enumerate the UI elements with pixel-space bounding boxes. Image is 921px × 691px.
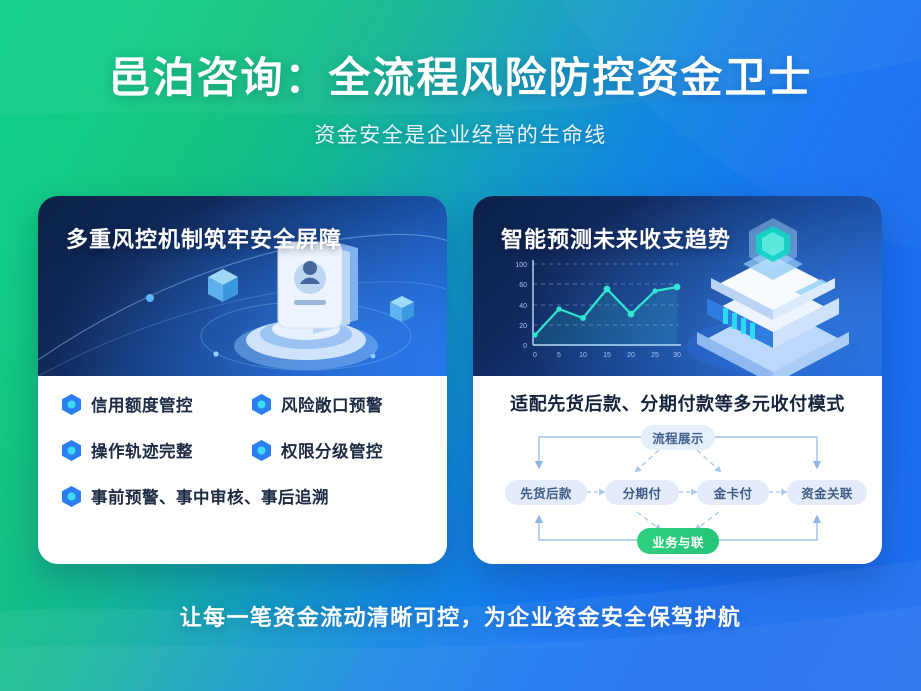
svg-text:60: 60 <box>519 282 527 289</box>
forecast-card[interactable]: 100 60 40 20 0 0 5 10 15 20 25 30 <box>473 196 882 564</box>
svg-text:20: 20 <box>627 352 635 359</box>
svg-text:10: 10 <box>579 352 587 359</box>
risk-control-card-body: 信用额度管控 风险敞口预警 操作轨迹 <box>38 376 447 564</box>
page-title: 邑泊咨询：全流程风险防控资金卫士 <box>0 52 921 105</box>
feature-item-credit-limit[interactable]: 信用额度管控 <box>62 392 252 416</box>
risk-control-heading: 多重风控机制筑牢安全屏障 <box>66 222 342 254</box>
feature-item-risk-exposure[interactable]: 风险敞口预警 <box>252 392 426 416</box>
feature-label: 权限分级管控 <box>281 438 383 462</box>
svg-text:0: 0 <box>533 352 537 359</box>
forecast-card-body: 适配先货后款、分期付款等多元收付模式 <box>473 376 882 564</box>
hexagon-bullet-icon <box>252 394 271 415</box>
svg-text:15: 15 <box>603 352 611 359</box>
feature-label: 风险敞口预警 <box>281 392 383 416</box>
page-subtitle: 资金安全是企业经营的生命线 <box>0 119 921 149</box>
footer-slogan: 让每一笔资金流动清晰可控，为企业资金安全保驾护航 <box>0 600 921 632</box>
flow-node-bottom[interactable]: 业务与联 <box>637 528 719 554</box>
feature-label: 事前预警、事中审核、事后追溯 <box>91 484 329 508</box>
risk-control-card[interactable]: 多重风控机制筑牢安全屏障 信用额度管控 <box>38 196 447 564</box>
cube-small-right <box>390 296 414 322</box>
feature-label: 信用额度管控 <box>91 392 193 416</box>
flow-step-2[interactable]: 分期付 <box>605 480 679 505</box>
hexagon-bullet-icon <box>62 394 81 415</box>
flow-step-1[interactable]: 先货后款 <box>505 480 587 505</box>
feature-label: 操作轨迹完整 <box>91 438 193 462</box>
cards-row: 多重风控机制筑牢安全屏障 信用额度管控 <box>38 196 883 564</box>
forecast-heading: 智能预测未来收支趋势 <box>501 222 731 254</box>
hexagon-bullet-icon <box>62 486 81 507</box>
slide-canvas: 邑泊咨询：全流程风险防控资金卫士 资金安全是企业经营的生命线 <box>0 0 921 691</box>
payment-modes-title: 适配先货后款、分期付款等多元收付模式 <box>473 390 882 416</box>
feature-item-permission-grading[interactable]: 权限分级管控 <box>252 438 426 462</box>
risk-control-card-header: 多重风控机制筑牢安全屏障 <box>38 196 447 376</box>
forecast-chart: 100 60 40 20 0 0 5 10 15 20 25 30 <box>499 256 689 364</box>
feature-item-full-lifecycle[interactable]: 事前预警、事中审核、事后追溯 <box>62 484 426 508</box>
flow-node-top[interactable]: 流程展示 <box>641 425 715 450</box>
hexagon-bullet-icon <box>62 440 81 461</box>
svg-text:0: 0 <box>523 343 527 350</box>
feature-item-operation-trace[interactable]: 操作轨迹完整 <box>62 438 252 462</box>
svg-text:40: 40 <box>519 303 527 310</box>
cube-small-left <box>208 269 238 302</box>
svg-text:30: 30 <box>673 352 681 359</box>
svg-text:20: 20 <box>519 323 527 330</box>
hexagon-bullet-icon <box>252 440 271 461</box>
slide-header: 邑泊咨询：全流程风险防控资金卫士 资金安全是企业经营的生命线 <box>0 52 921 149</box>
flow-step-4[interactable]: 资金关联 <box>787 480 867 505</box>
forecast-card-header: 100 60 40 20 0 0 5 10 15 20 25 30 <box>473 196 882 376</box>
feature-list: 信用额度管控 风险敞口预警 操作轨迹 <box>62 392 426 508</box>
svg-text:25: 25 <box>651 352 659 359</box>
process-flow-diagram: 流程展示 先货后款 分期付 金卡付 资金关联 业务与联 <box>483 424 872 554</box>
svg-text:100: 100 <box>515 262 527 269</box>
flow-step-3[interactable]: 金卡付 <box>697 480 769 505</box>
svg-text:5: 5 <box>557 352 561 359</box>
